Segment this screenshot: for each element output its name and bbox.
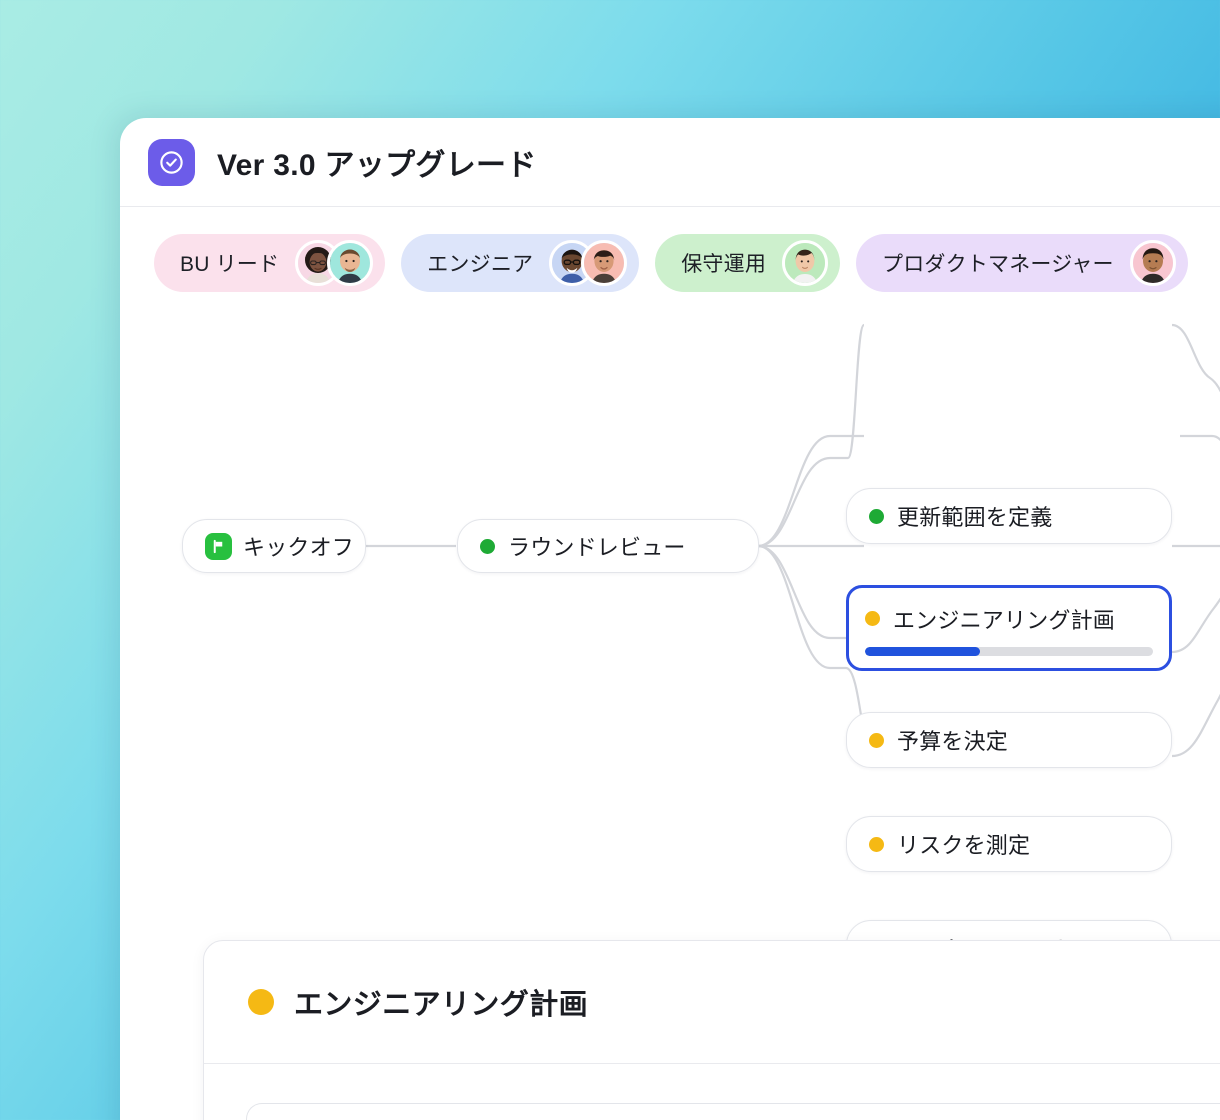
role-tag-label: 保守運用 [681,248,766,278]
status-dot-green [869,509,884,524]
detail-panel-subcard[interactable] [246,1103,1220,1120]
role-tag-maintenance[interactable]: 保守運用 [655,234,840,292]
progress-bar [865,647,1153,656]
status-dot-green [480,539,495,554]
status-dot-amber [869,837,884,852]
avatar-engineer-2[interactable] [581,240,627,286]
mindmap-node-header: エンジニアリング計画 [865,603,1153,635]
mindmap-node-label: エンジニアリング計画 [893,603,1115,635]
role-tag-engineer[interactable]: エンジニア [401,234,639,292]
avatar-product-manager-1[interactable] [1130,240,1176,286]
mindmap-node-label: ラウンドレビュー [508,530,686,562]
avatar-bu-lead-2[interactable] [327,240,373,286]
avatar-group [782,240,828,286]
page-title: Ver 3.0 アップグレード [217,140,537,184]
mindmap-node-engineering-plan[interactable]: エンジニアリング計画 [846,585,1172,671]
detail-panel-header: エンジニアリング計画 [204,941,1220,1064]
app-header: Ver 3.0 アップグレード [120,118,1220,207]
mindmap-node-label: リスクを測定 [897,828,1030,860]
mindmap-node-round-review[interactable]: ラウンドレビュー [457,519,759,573]
status-dot-amber [869,733,884,748]
mindmap-node-scope[interactable]: 更新範囲を定義 [846,488,1172,544]
status-dot-amber [865,611,880,626]
mindmap-canvas[interactable]: キックオフ ラウンドレビュー 更新範囲を定義 エンジニアリング計画 予算を決定 [120,308,1220,928]
avatar-group [295,240,373,286]
role-tag-label: エンジニア [427,248,533,278]
app-window: Ver 3.0 アップグレード BU リード [120,118,1220,1120]
detail-panel: エンジニアリング計画 [203,940,1220,1120]
role-tag-product-manager[interactable]: プロダクトマネージャー [856,234,1188,292]
avatar-group [549,240,627,286]
mindmap-node-kickoff[interactable]: キックオフ [182,519,366,573]
mindmap-node-label: キックオフ [243,530,354,562]
status-dot-amber [248,989,274,1015]
check-circle-icon [148,139,195,186]
detail-panel-title: エンジニアリング計画 [294,981,588,1023]
flag-square-icon [205,533,232,560]
progress-bar-fill [865,647,980,656]
avatar-maintenance-1[interactable] [782,240,828,286]
mindmap-node-label: 更新範囲を定義 [897,500,1052,532]
role-tag-bu-lead[interactable]: BU リード [154,234,385,292]
avatar-group [1130,240,1176,286]
mindmap-node-budget[interactable]: 予算を決定 [846,712,1172,768]
mindmap-node-label: 予算を決定 [897,724,1008,756]
role-tag-label: BU リード [180,248,279,278]
role-tag-label: プロダクトマネージャー [882,248,1114,278]
role-tag-row: BU リード [154,234,1188,292]
mindmap-node-risk[interactable]: リスクを測定 [846,816,1172,872]
